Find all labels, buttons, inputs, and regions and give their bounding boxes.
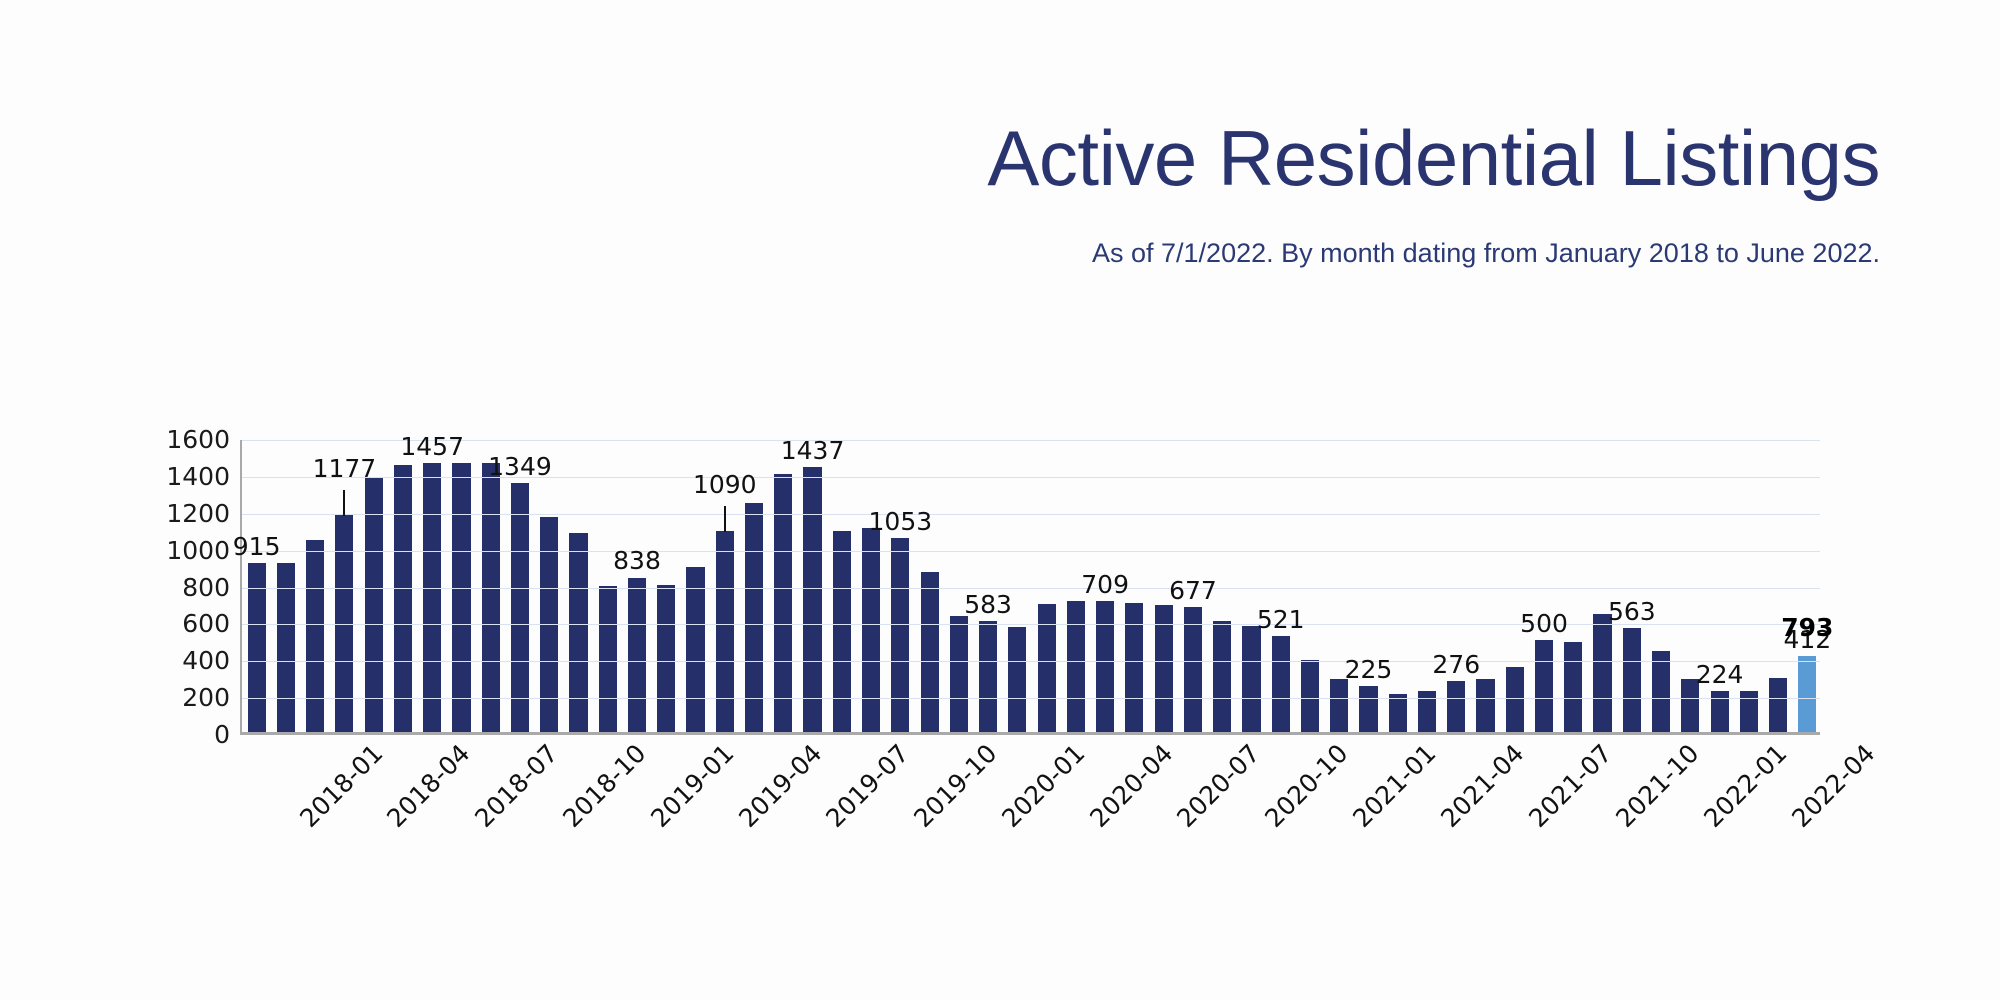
chart-page: Active Residential Listings As of 7/1/20… — [0, 0, 2000, 1000]
x-axis-tick-label: 2020-04 — [1085, 740, 1177, 832]
bar-2019-05[interactable] — [716, 531, 734, 732]
x-axis-tick-label: 2018-01 — [295, 740, 387, 832]
bar-value-label: 915 — [187, 534, 327, 559]
bar-2020-04[interactable] — [1038, 604, 1056, 732]
y-axis-tick-label: 1400 — [118, 464, 230, 489]
bar-2018-05[interactable] — [365, 477, 383, 732]
gridline — [242, 514, 1820, 515]
bar-2020-10[interactable] — [1213, 621, 1231, 732]
bar-2021-04[interactable] — [1389, 694, 1407, 732]
bar-2019-10[interactable] — [862, 528, 880, 732]
x-axis-tick-label: 2021-04 — [1436, 740, 1528, 832]
bar-value-label: 224 — [1650, 662, 1790, 687]
bar-2018-01[interactable] — [248, 563, 266, 732]
gridline — [242, 698, 1820, 699]
bar-2019-02[interactable] — [628, 578, 646, 733]
bar-2020-02[interactable] — [979, 621, 997, 732]
y-axis-tick-label: 200 — [118, 685, 230, 710]
bar-2019-07[interactable] — [774, 474, 792, 732]
bar-2020-05[interactable] — [1067, 601, 1085, 732]
bar-2020-11[interactable] — [1242, 626, 1260, 732]
bar-2018-08[interactable] — [452, 463, 470, 732]
bar-value-label: 563 — [1562, 599, 1702, 624]
bar-2020-03[interactable] — [1008, 627, 1026, 732]
gridline — [242, 551, 1820, 552]
bar-2018-10[interactable] — [511, 483, 529, 732]
x-axis-tick-label: 2018-10 — [559, 740, 651, 832]
bar-series — [242, 440, 1820, 732]
x-axis-tick-label: 2021-01 — [1349, 740, 1441, 832]
bar-2019-01[interactable] — [599, 586, 617, 732]
bar-value-label: 677 — [1123, 578, 1263, 603]
bar-2021-06[interactable] — [1447, 681, 1465, 732]
x-axis-tick-label: 2019-01 — [646, 740, 738, 832]
bar-2021-07[interactable] — [1476, 679, 1494, 732]
bar-2021-12[interactable] — [1623, 628, 1641, 732]
bar-2018-02[interactable] — [277, 563, 295, 732]
bar-value-label: 521 — [1211, 607, 1351, 632]
bar-2018-09[interactable] — [482, 463, 500, 732]
x-axis-tick-label: 2018-04 — [383, 740, 475, 832]
x-axis-tick-label: 2021-10 — [1612, 740, 1704, 832]
bar-2019-11[interactable] — [891, 538, 909, 732]
bar-2021-08[interactable] — [1506, 667, 1524, 732]
bar-value-label: 1053 — [830, 509, 970, 534]
x-axis-tick-label: 2019-07 — [822, 740, 914, 832]
bar-2020-06[interactable] — [1096, 601, 1114, 732]
x-axis-tick-label: 2020-01 — [997, 740, 1089, 832]
bar-2018-07[interactable] — [423, 463, 441, 732]
y-axis: 02004006008001000120014001600 — [110, 440, 230, 735]
bar-value-label: 1090 — [655, 472, 795, 497]
bar-2021-03[interactable] — [1359, 686, 1377, 732]
bar-2020-01[interactable] — [950, 616, 968, 732]
bar-2022-03[interactable] — [1711, 691, 1729, 732]
x-axis-tick-label: 2020-07 — [1173, 740, 1265, 832]
bar-2022-06[interactable] — [1798, 656, 1816, 732]
bar-value-label: 1177 — [274, 456, 414, 481]
y-axis-tick-label: 400 — [118, 648, 230, 673]
bar-2019-03[interactable] — [657, 585, 675, 733]
bar-2021-09[interactable] — [1535, 640, 1553, 732]
bar-2018-03[interactable] — [306, 540, 324, 732]
bar-value-label: 1437 — [743, 438, 883, 463]
bar-2018-06[interactable] — [394, 465, 412, 732]
label-leader-line — [343, 490, 345, 516]
bar-2020-07[interactable] — [1125, 603, 1143, 732]
bar-value-label: 1349 — [450, 454, 590, 479]
x-axis-labels: 2018-012018-042018-072018-102019-012019-… — [240, 740, 1820, 880]
x-axis-tick-label: 2018-07 — [471, 740, 563, 832]
y-axis-tick-label: 800 — [118, 575, 230, 600]
x-axis-tick-label: 2021-07 — [1524, 740, 1616, 832]
label-leader-line — [724, 506, 726, 532]
y-axis-tick-label: 600 — [118, 611, 230, 636]
gridline — [242, 588, 1820, 589]
x-axis-tick-label: 2019-10 — [910, 740, 1002, 832]
bar-value-label: 793 — [1737, 615, 1877, 640]
bar-2020-09[interactable] — [1184, 607, 1202, 732]
x-axis-tick-label: 2022-04 — [1787, 740, 1879, 832]
bar-2021-02[interactable] — [1330, 679, 1348, 732]
x-axis-tick-label: 2019-04 — [734, 740, 826, 832]
bar-value-label: 838 — [567, 548, 707, 573]
bar-2019-08[interactable] — [803, 467, 821, 732]
gridline — [242, 661, 1820, 662]
bar-2021-10[interactable] — [1564, 642, 1582, 732]
bar-2019-09[interactable] — [833, 531, 851, 732]
y-axis-tick-label: 1200 — [118, 501, 230, 526]
x-axis-tick-label: 2020-10 — [1261, 740, 1353, 832]
plot-area: 9151177145713498381090143710535837096775… — [240, 440, 1820, 735]
x-axis-tick-label: 2022-01 — [1700, 740, 1792, 832]
y-axis-tick-label: 1600 — [118, 427, 230, 452]
bar-value-label: 276 — [1386, 652, 1526, 677]
y-axis-tick-label: 0 — [118, 722, 230, 747]
bar-2019-04[interactable] — [686, 567, 704, 732]
bar-2020-12[interactable] — [1272, 636, 1290, 732]
bar-chart: 02004006008001000120014001600 9151177145… — [0, 0, 2000, 1000]
